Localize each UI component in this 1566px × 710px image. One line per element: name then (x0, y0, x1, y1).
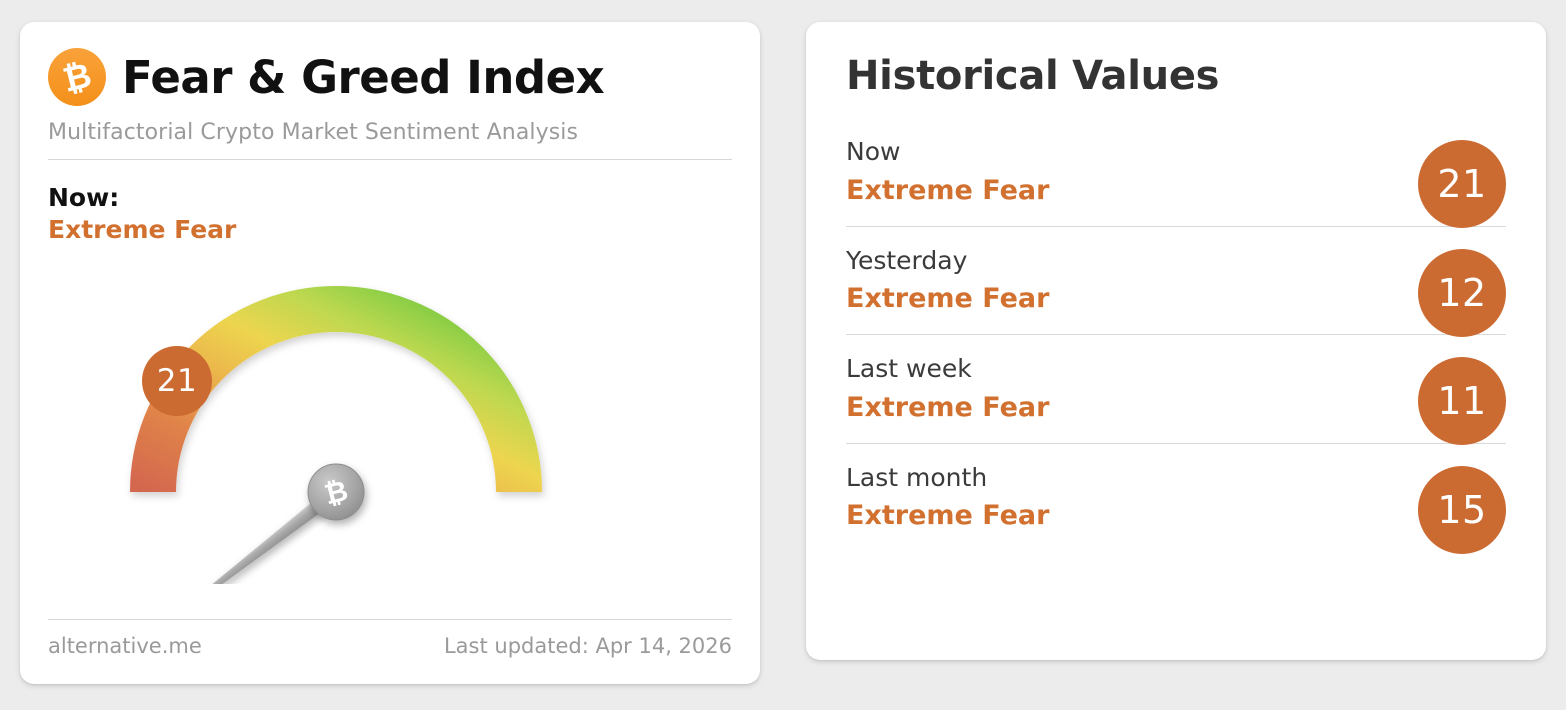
footer-divider (48, 619, 732, 620)
page-title: Fear & Greed Index (122, 55, 604, 100)
gauge-value-badge: 21 (142, 346, 212, 416)
list-item-value-badge: 15 (1418, 466, 1506, 554)
svg-text:₿: ₿ (59, 55, 96, 101)
list-item-value-badge: 11 (1418, 357, 1506, 445)
page-subtitle: Multifactorial Crypto Market Sentiment A… (48, 120, 732, 145)
gauge-card-header: ₿ Fear & Greed Index (48, 48, 732, 106)
list-item-value-badge: 12 (1418, 249, 1506, 337)
historical-values-title: Historical Values (846, 56, 1506, 96)
gauge-chart: ₿ 21 (48, 254, 732, 584)
list-item-value-badge: 21 (1418, 140, 1506, 228)
list-item-label: Yesterday (846, 245, 1506, 278)
list-item-label: Now (846, 136, 1506, 169)
list-item-label: Last week (846, 353, 1506, 386)
now-label: Now: (48, 182, 732, 214)
fear-greed-gauge-card: ₿ Fear & Greed Index Multifactorial Cryp… (20, 22, 760, 684)
current-value-block: Now: Extreme Fear (48, 182, 732, 246)
list-item-label: Last month (846, 462, 1506, 495)
list-item[interactable]: Yesterday Extreme Fear 12 (846, 245, 1506, 336)
source-link[interactable]: alternative.me (48, 634, 202, 658)
list-item-classification: Extreme Fear (846, 498, 1506, 533)
list-item-classification: Extreme Fear (846, 173, 1506, 208)
now-classification: Extreme Fear (48, 214, 732, 246)
list-item-classification: Extreme Fear (846, 281, 1506, 316)
list-item[interactable]: Last week Extreme Fear 11 (846, 353, 1506, 444)
bitcoin-icon: ₿ (48, 48, 106, 106)
historical-values-list: Now Extreme Fear 21 Yesterday Extreme Fe… (846, 136, 1506, 551)
header-divider (48, 159, 732, 160)
historical-values-card: Historical Values Now Extreme Fear 21 Ye… (806, 22, 1546, 660)
list-item[interactable]: Last month Extreme Fear 15 (846, 462, 1506, 552)
last-updated-text: Last updated: Apr 14, 2026 (444, 634, 732, 658)
page-root: ₿ Fear & Greed Index Multifactorial Cryp… (0, 0, 1566, 710)
list-item-classification: Extreme Fear (846, 390, 1506, 425)
gauge-card-footer: alternative.me Last updated: Apr 14, 202… (48, 619, 732, 658)
list-item[interactable]: Now Extreme Fear 21 (846, 136, 1506, 227)
